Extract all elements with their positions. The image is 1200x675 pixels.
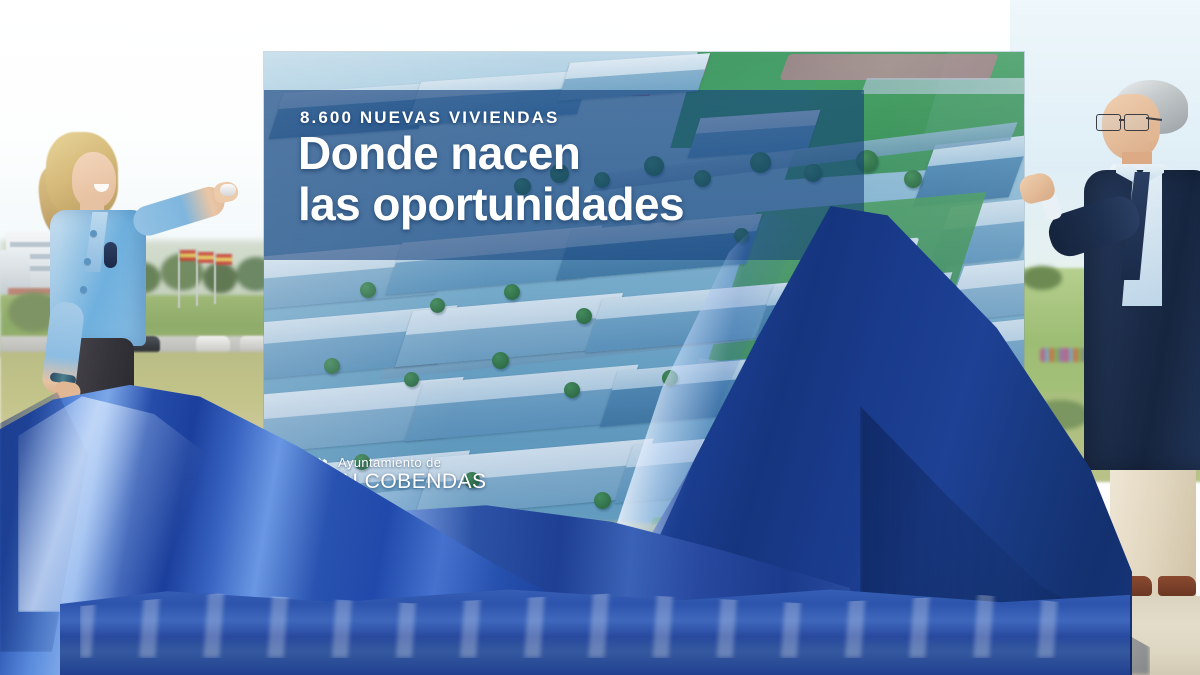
billboard-kicker: 8.600 NUEVAS VIVIENDAS [300, 108, 559, 128]
glasses-lens-left [1096, 114, 1121, 131]
headline-line-1: Donde nacen [298, 127, 580, 179]
woman-jacket-button [80, 286, 87, 293]
logo-line-1: Ayuntamiento de [338, 456, 487, 469]
woman-jacket-button [84, 258, 91, 265]
screenshot-scene: 8.600 NUEVAS VIVIENDAS Donde nacen las o… [0, 0, 1200, 675]
woman-brooch [104, 242, 117, 268]
glasses-icon [1096, 114, 1154, 129]
microphone-icon [220, 184, 236, 196]
man-shoe [1158, 576, 1196, 596]
spain-flag-icon [216, 254, 232, 265]
woman-jacket-button [90, 230, 97, 237]
headline-line-2: las oportunidades [298, 179, 684, 230]
background-shrub [1022, 266, 1062, 290]
person-woman [18, 126, 218, 426]
unveiling-cloth-pooled-highlight [80, 588, 1060, 658]
billboard-headline: Donde nacen las oportunidades [298, 128, 684, 230]
